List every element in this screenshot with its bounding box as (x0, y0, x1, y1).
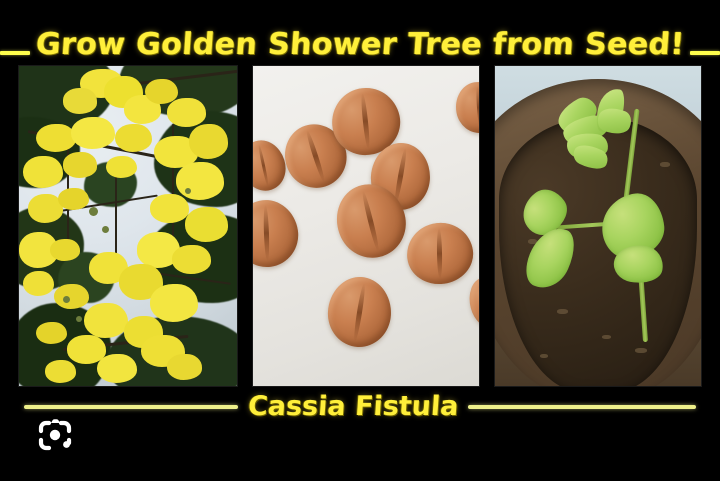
photo-panel-seedling (494, 65, 702, 387)
poster-caption-row: Cassia Fistula (0, 390, 720, 424)
seeds-image (253, 66, 479, 386)
photo-panel-seeds (252, 65, 480, 387)
poster-title-row: Grow Golden Shower Tree from Seed! (0, 27, 720, 63)
google-lens-icon (36, 414, 80, 458)
species-caption: Cassia Fistula (247, 392, 460, 422)
photo-panel-flowering-tree (18, 65, 238, 387)
title-rule-left (0, 51, 30, 55)
photo-strip (18, 65, 702, 387)
image-poster: Grow Golden Shower Tree from Seed! (0, 0, 720, 481)
caption-rule-right (468, 405, 696, 409)
page-title: Grow Golden Shower Tree from Seed! (35, 28, 686, 62)
caption-rule-left (24, 405, 238, 409)
google-lens-button[interactable] (36, 414, 80, 458)
title-rule-right (690, 51, 720, 55)
flowering-tree-image (19, 66, 237, 386)
seedling-image (495, 66, 701, 386)
